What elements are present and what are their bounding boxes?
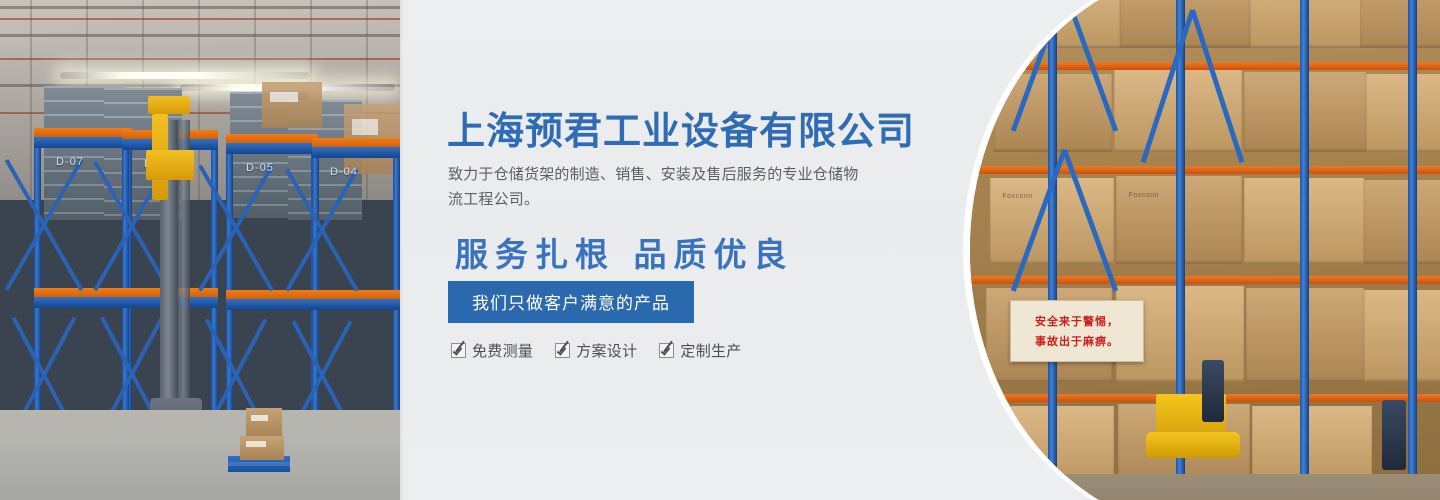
feature-list: 免费测量 方案设计 定制生产	[451, 340, 742, 361]
hero-copy: 上海预君工业设备有限公司 致力于仓储货架的制造、销售、安装及售后服务的专业仓储物…	[447, 0, 1007, 500]
feature-label: 方案设计	[576, 340, 637, 361]
warehouse-photo-left: D-07 D-06 D-	[0, 0, 400, 500]
rack-label: D-04	[330, 166, 358, 178]
ceiling-light	[60, 72, 310, 79]
worker	[1382, 400, 1406, 470]
safety-sign-line-2: 事故出于麻痹。	[1035, 333, 1119, 349]
carton	[1364, 180, 1440, 264]
carton	[1360, 0, 1440, 48]
warehouse-floor	[970, 474, 1440, 500]
rack-label: D-05	[246, 162, 274, 174]
forklift-cab	[146, 150, 194, 180]
rack-upright	[1408, 0, 1417, 500]
operator	[1202, 360, 1224, 422]
carton-brand: Foxconn	[1129, 192, 1159, 199]
safety-sign-line-1: 安全来于警惕，	[1035, 313, 1119, 329]
warehouse-floor	[0, 410, 400, 500]
safety-sign: 安全来于警惕， 事故出于麻痹。	[1010, 300, 1144, 362]
feature-item-free-measurement: 免费测量	[451, 340, 533, 361]
carton	[1366, 74, 1440, 152]
check-icon	[659, 343, 674, 358]
carton	[246, 408, 282, 438]
feature-item-solution-design: 方案设计	[555, 340, 637, 361]
feature-item-custom-production: 定制生产	[659, 340, 741, 361]
check-icon	[555, 343, 570, 358]
forklift-boom	[148, 96, 190, 114]
carton	[1364, 290, 1440, 382]
warehouse-photo-right-wrap: Foxconn Foxconn Foxconn Foxconn	[960, 0, 1440, 500]
rack-label: D-07	[56, 156, 84, 168]
feature-label: 定制生产	[680, 340, 741, 361]
cta-button[interactable]: 我们只做客户满意的产品	[448, 281, 694, 323]
rack-upright	[1048, 0, 1057, 500]
warehouse-photo-right: Foxconn Foxconn Foxconn Foxconn	[970, 0, 1440, 500]
carton-brand: Foxconn	[1002, 193, 1032, 200]
check-icon	[451, 343, 466, 358]
company-slogan: 服务扎根 品质优良	[455, 228, 794, 276]
carton	[240, 436, 284, 460]
carton	[1250, 0, 1370, 48]
rack-upright	[1300, 0, 1309, 500]
company-subtitle: 致力于仓储货架的制造、销售、安装及售后服务的专业仓储物流工程公司。	[448, 162, 868, 212]
carton	[262, 82, 322, 128]
rack-beam	[970, 276, 1440, 284]
forklift-base	[1146, 432, 1240, 458]
feature-label: 免费测量	[472, 340, 533, 361]
company-title: 上海预君工业设备有限公司	[447, 100, 915, 155]
rack-beam	[970, 166, 1440, 174]
homepage-hero-banner: D-07 D-06 D-	[0, 0, 1440, 500]
